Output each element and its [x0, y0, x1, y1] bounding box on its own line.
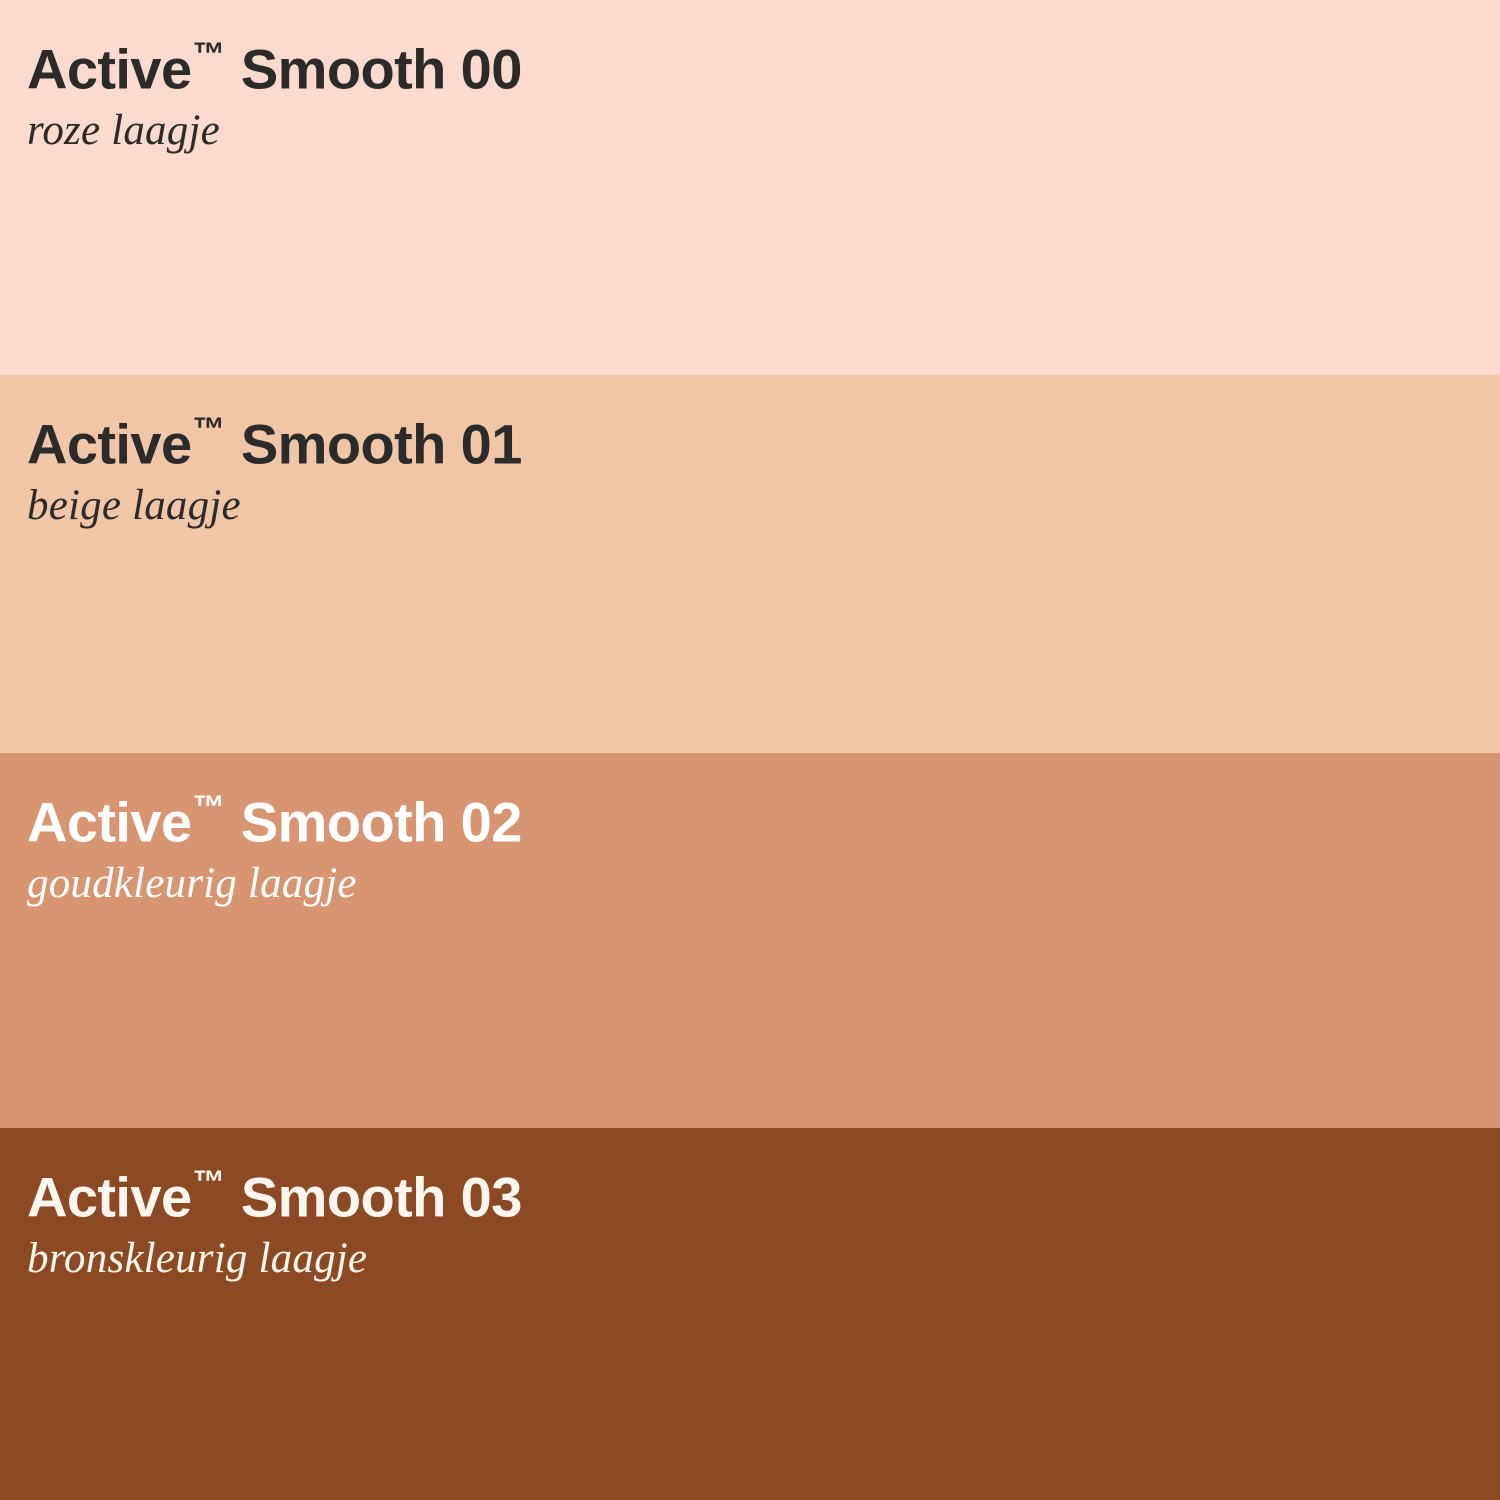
swatch-band-03: Active™ Smooth 03 bronskleurig laagje — [0, 1128, 1500, 1500]
swatch-title-shade: Smooth 02 — [226, 790, 522, 853]
swatch-subtitle-00: roze laagje — [27, 109, 1500, 152]
swatch-title-brand: Active — [27, 412, 191, 475]
swatch-title-brand: Active — [27, 790, 191, 853]
swatch-title-shade: Smooth 00 — [226, 37, 522, 100]
swatch-title-brand: Active — [27, 37, 191, 100]
swatch-subtitle-02: goudkleurig laagje — [27, 862, 1500, 905]
swatch-title-01: Active™ Smooth 01 — [27, 413, 1500, 472]
swatch-title-shade: Smooth 01 — [226, 412, 522, 475]
swatch-subtitle-01: beige laagje — [27, 484, 1500, 527]
swatch-band-02: Active™ Smooth 02 goudkleurig laagje — [0, 753, 1500, 1128]
swatch-subtitle-03: bronskleurig laagje — [27, 1237, 1500, 1280]
swatch-title-00: Active™ Smooth 00 — [27, 38, 1500, 97]
swatch-title-02: Active™ Smooth 02 — [27, 791, 1500, 850]
swatch-title-brand: Active — [27, 1165, 191, 1228]
swatch-title-shade: Smooth 03 — [226, 1165, 522, 1228]
trademark-icon: ™ — [192, 789, 224, 825]
trademark-icon: ™ — [192, 1164, 224, 1200]
swatch-stack: Active™ Smooth 00 roze laagje Active™ Sm… — [0, 0, 1500, 1500]
swatch-band-00: Active™ Smooth 00 roze laagje — [0, 0, 1500, 375]
trademark-icon: ™ — [192, 411, 224, 447]
trademark-icon: ™ — [192, 36, 224, 72]
swatch-title-03: Active™ Smooth 03 — [27, 1166, 1500, 1225]
swatch-band-01: Active™ Smooth 01 beige laagje — [0, 375, 1500, 753]
